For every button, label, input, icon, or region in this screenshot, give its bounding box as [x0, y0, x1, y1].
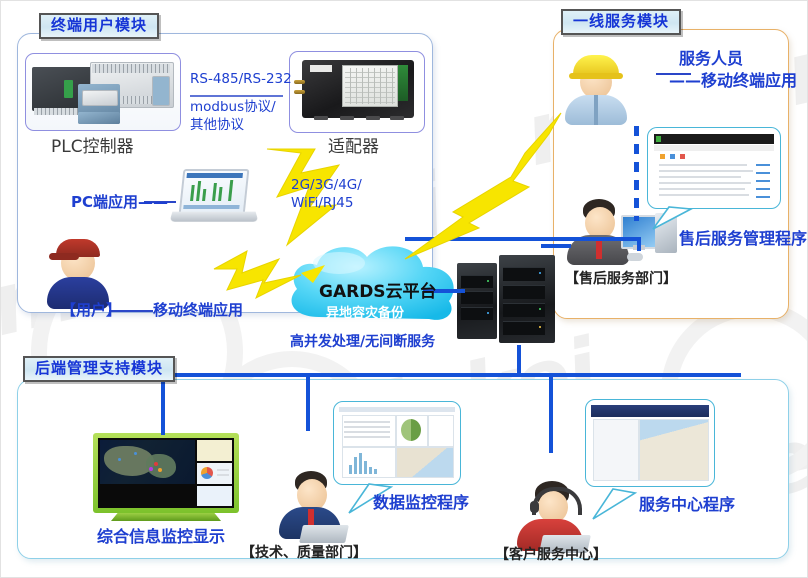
laptop-chart-bar: [196, 181, 201, 201]
callout-data-monitor-program: [333, 401, 461, 485]
screenshot-action-link: [756, 180, 770, 182]
tech-laptop: [299, 525, 349, 543]
adapter-mount-tab: [340, 116, 354, 120]
screenshot-status-dot: [660, 154, 665, 159]
screenshot-data-row: [659, 164, 747, 166]
laptop-footer-bar: [183, 205, 239, 209]
laptop-chart-bar: [212, 183, 217, 201]
screenshot-action-link: [756, 172, 770, 174]
pc-mouse: [627, 253, 643, 261]
screenshot-panel-list: [428, 415, 454, 447]
plc-unit-blue-base: [78, 112, 120, 124]
map-marker: [134, 452, 137, 455]
pc-tower: [655, 213, 677, 253]
cloud-caption: 高并发处理/无间断服务: [290, 331, 435, 351]
screenshot-panel-histogram: [342, 447, 396, 478]
screenshot-aftersales-program: [654, 134, 774, 202]
chip-terminal-user-module: 终端用户模块: [39, 13, 159, 39]
headset-earpiece: [530, 501, 539, 513]
plc-image-frame: [25, 53, 181, 131]
adapter-mount-tab: [366, 116, 380, 120]
protocol-line-1: RS-485/RS-232: [190, 71, 292, 88]
adapter-terminal-block: [398, 65, 408, 101]
chart-legend-row: [217, 469, 229, 471]
connector-cloud-to-aftersales: [405, 237, 641, 241]
aftersales-program-label: 售后服务管理程序: [679, 229, 807, 249]
headset-icon: [532, 487, 582, 515]
monitor-wall-map: [100, 440, 195, 484]
adapter-mount-tab: [314, 116, 328, 120]
rack-led: [539, 326, 541, 328]
protocol-line-3: 其他协议: [190, 117, 244, 134]
map-marker: [118, 458, 121, 461]
map-marker: [149, 467, 153, 471]
adapter-label-plate: [342, 65, 398, 107]
callout-service-center-program: [585, 399, 715, 487]
adapter-antenna-connector: [294, 80, 305, 84]
rack-slot: [503, 285, 545, 299]
service-staff-label-line-1: 服务人员: [679, 49, 743, 69]
rack-led: [487, 312, 489, 314]
connector-aftersales-drop: [637, 237, 641, 251]
avatar-user: [41, 231, 117, 307]
laptop-chart-bar: [202, 189, 206, 201]
map-marker: [158, 468, 162, 472]
pie-chart-icon: [201, 467, 213, 479]
callout-aftersales-program: [647, 127, 781, 209]
screenshot-form-panel: [593, 419, 639, 481]
rack-led: [539, 308, 541, 310]
plc-terminal-strip: [92, 64, 170, 73]
screenshot-action-link: [756, 164, 770, 166]
screenshot-service-center: [591, 405, 709, 481]
laptop-chart-bar: [218, 187, 222, 201]
connector-to-monitor-wall: [161, 373, 165, 435]
service-staff-label-line-2: ——移动终端应用: [669, 71, 797, 91]
user-label: 【用户】: [61, 301, 121, 320]
plc-led-green: [64, 80, 73, 98]
adapter-antenna-connector: [294, 90, 305, 94]
connector-bottom-bus: [161, 373, 741, 377]
chip-backend-support-module: 后端管理支持模块: [23, 356, 175, 382]
plc-side-module: [152, 76, 170, 106]
tech-dept-label: 【技术、质量部门】: [241, 545, 367, 563]
avatar-service-staff: [561, 47, 631, 125]
monitor-wall-stand: [111, 513, 221, 521]
chip-front-service-module: 一线服务模块: [561, 9, 681, 35]
screenshot-data-row: [659, 182, 751, 184]
service-center-program-label: 服务中心程序: [639, 495, 735, 515]
aftersales-department-label: 【售后服务部门】: [565, 271, 677, 289]
wireless-protocols-line-2: WiFi/RJ45: [291, 195, 353, 212]
screenshot-logo: [656, 136, 661, 142]
rack-led: [539, 272, 541, 274]
connector-aftersales-stub: [541, 244, 571, 248]
plc-label: PLC控制器: [51, 137, 134, 158]
monitor-wall: [93, 433, 239, 523]
connector-to-customer-center: [549, 373, 553, 453]
adapter-sticker: [310, 65, 332, 72]
screenshot-action-link: [756, 196, 770, 198]
adapter-plate-grid: [345, 68, 395, 104]
cloud-title: GARDS云平台: [319, 277, 437, 302]
laptop-screen: [179, 169, 250, 215]
screenshot-map-panel: [639, 419, 709, 481]
wireless-protocols-line-1: 2G/3G/4G/: [291, 177, 362, 194]
monitor-wall-panel-report: [197, 440, 232, 461]
rack-slot: [503, 321, 545, 335]
laptop-titlebar: [186, 173, 243, 178]
mobile-app-label: 移动终端应用: [153, 301, 243, 320]
screenshot-menu-bar: [654, 145, 774, 151]
laptop-chart-bar: [190, 185, 195, 201]
laptop-pc-app: [171, 169, 257, 229]
user-cap-brim: [49, 253, 79, 260]
chart-legend-row: [217, 474, 229, 476]
screenshot-panel-map: [396, 447, 454, 478]
rack-slot: [461, 291, 493, 304]
screenshot-toolbar: [339, 407, 455, 412]
connector-to-tech-dept: [306, 373, 310, 431]
avatar-tech-dept: [273, 469, 347, 545]
screenshot-data-row: [659, 188, 745, 190]
connector-dashed-phone-to-pc: [634, 126, 639, 221]
monitor-wall-panel-chart: [197, 463, 232, 484]
rack-led: [487, 280, 489, 282]
screenshot-data-row: [659, 176, 741, 178]
staff-uniform-placket: [594, 95, 598, 125]
screenshot-action-link: [756, 188, 770, 190]
map-marker: [154, 462, 158, 466]
plc-unit-blue-face: [82, 90, 118, 106]
screenshot-panel-pie: [396, 415, 428, 447]
laptop-base: [169, 212, 258, 222]
customer-center-label: 【客户服务中心】: [495, 547, 607, 565]
monitor-wall-panel-table: [197, 486, 232, 506]
monitor-wall-label: 综合信息监控显示: [97, 527, 225, 547]
cloud-subtitle: 异地容灾备份: [326, 302, 404, 321]
data-monitor-program-label: 数据监控程序: [373, 493, 469, 513]
adapter-mount-tab: [390, 116, 404, 120]
rack-slot: [503, 267, 545, 281]
screenshot-data-monitor: [339, 407, 455, 479]
pc-app-label: PC端应用——: [71, 193, 168, 212]
protocol-line-2: modbus协议/: [190, 99, 276, 116]
adapter-label: 适配器: [328, 137, 379, 158]
server-rack: [457, 253, 561, 347]
avatar-customer-service: [513, 481, 589, 553]
screenshot-status-dot: [680, 154, 685, 159]
screenshot-status-dot: [670, 154, 675, 159]
hardhat-brim: [569, 73, 623, 79]
screenshot-panel-table: [342, 415, 396, 447]
adapter-image-frame: [289, 51, 425, 133]
screenshot-data-row: [659, 194, 749, 196]
rack-slot: [503, 303, 545, 317]
architecture-diagram: mKerinkei mKerinkei mKerinkei mKerinkei …: [0, 0, 808, 578]
laptop-chart-bar: [228, 180, 233, 201]
screenshot-header-bar: [654, 134, 774, 144]
map-landmass: [146, 454, 176, 478]
screenshot-ribbon: [591, 405, 709, 417]
screenshot-data-row: [659, 170, 753, 172]
